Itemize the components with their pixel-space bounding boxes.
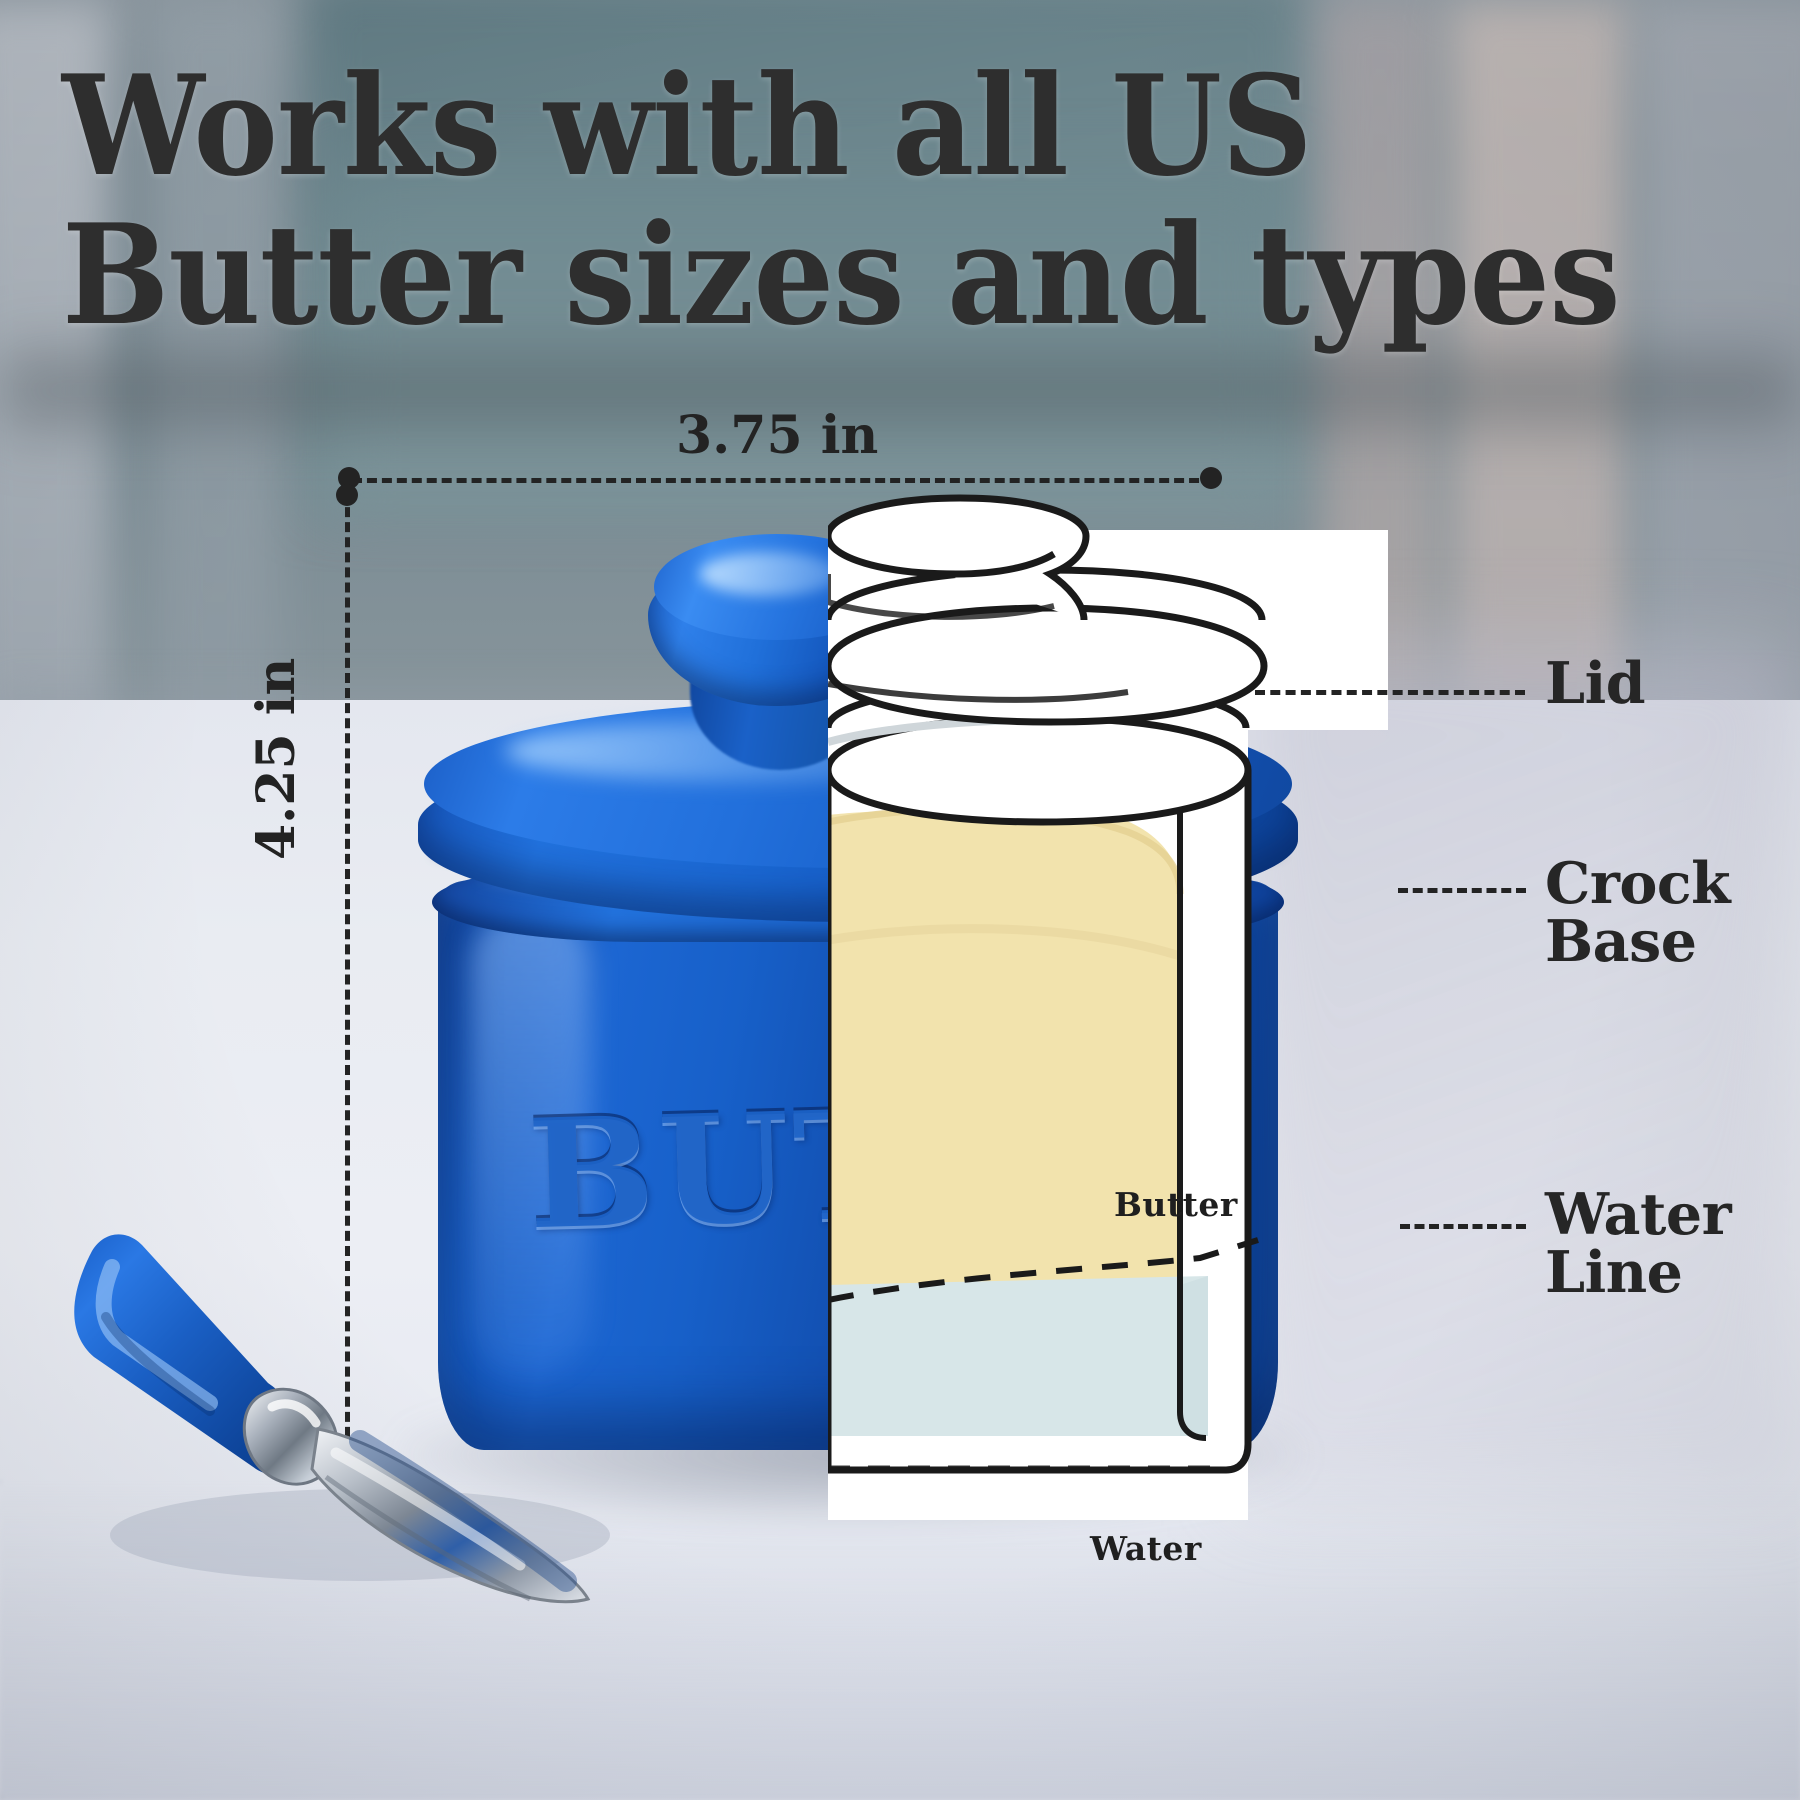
callout-leader-lid <box>1255 690 1525 695</box>
width-dimension-label: 3.75 in <box>676 405 878 466</box>
callout-leader-water-line <box>1400 1224 1526 1229</box>
callout-label-crock-base: Crock Base <box>1545 855 1730 971</box>
callout-crock-line-2: Base <box>1545 908 1696 975</box>
callout-label-water-line: Water Line <box>1545 1186 1731 1302</box>
butter-spreader-knife <box>60 1185 660 1615</box>
lid-skirt-outline <box>828 608 1264 722</box>
label-butter: Butter <box>1114 1185 1238 1224</box>
callout-crock-line-1: Crock <box>1545 850 1730 917</box>
water-fill <box>828 1276 1208 1436</box>
callout-waterline-line-1: Water <box>1545 1181 1731 1248</box>
height-dimension-label: 4.25 in <box>246 658 307 860</box>
callout-waterline-line-2: Line <box>1545 1239 1682 1306</box>
callout-label-lid: Lid <box>1545 655 1645 713</box>
height-dim-dot-top <box>336 484 358 506</box>
label-water: Water <box>1090 1529 1202 1568</box>
cutaway-diagram-overlay <box>828 470 1388 1540</box>
width-dim-dot-right <box>1200 467 1222 489</box>
width-dimension-line <box>352 478 1214 483</box>
crock-lid-knob-highlight <box>700 552 840 596</box>
infographic-canvas: Works with all US Butter sizes and types… <box>0 0 1800 1800</box>
callout-leader-crock-base <box>1398 888 1526 893</box>
